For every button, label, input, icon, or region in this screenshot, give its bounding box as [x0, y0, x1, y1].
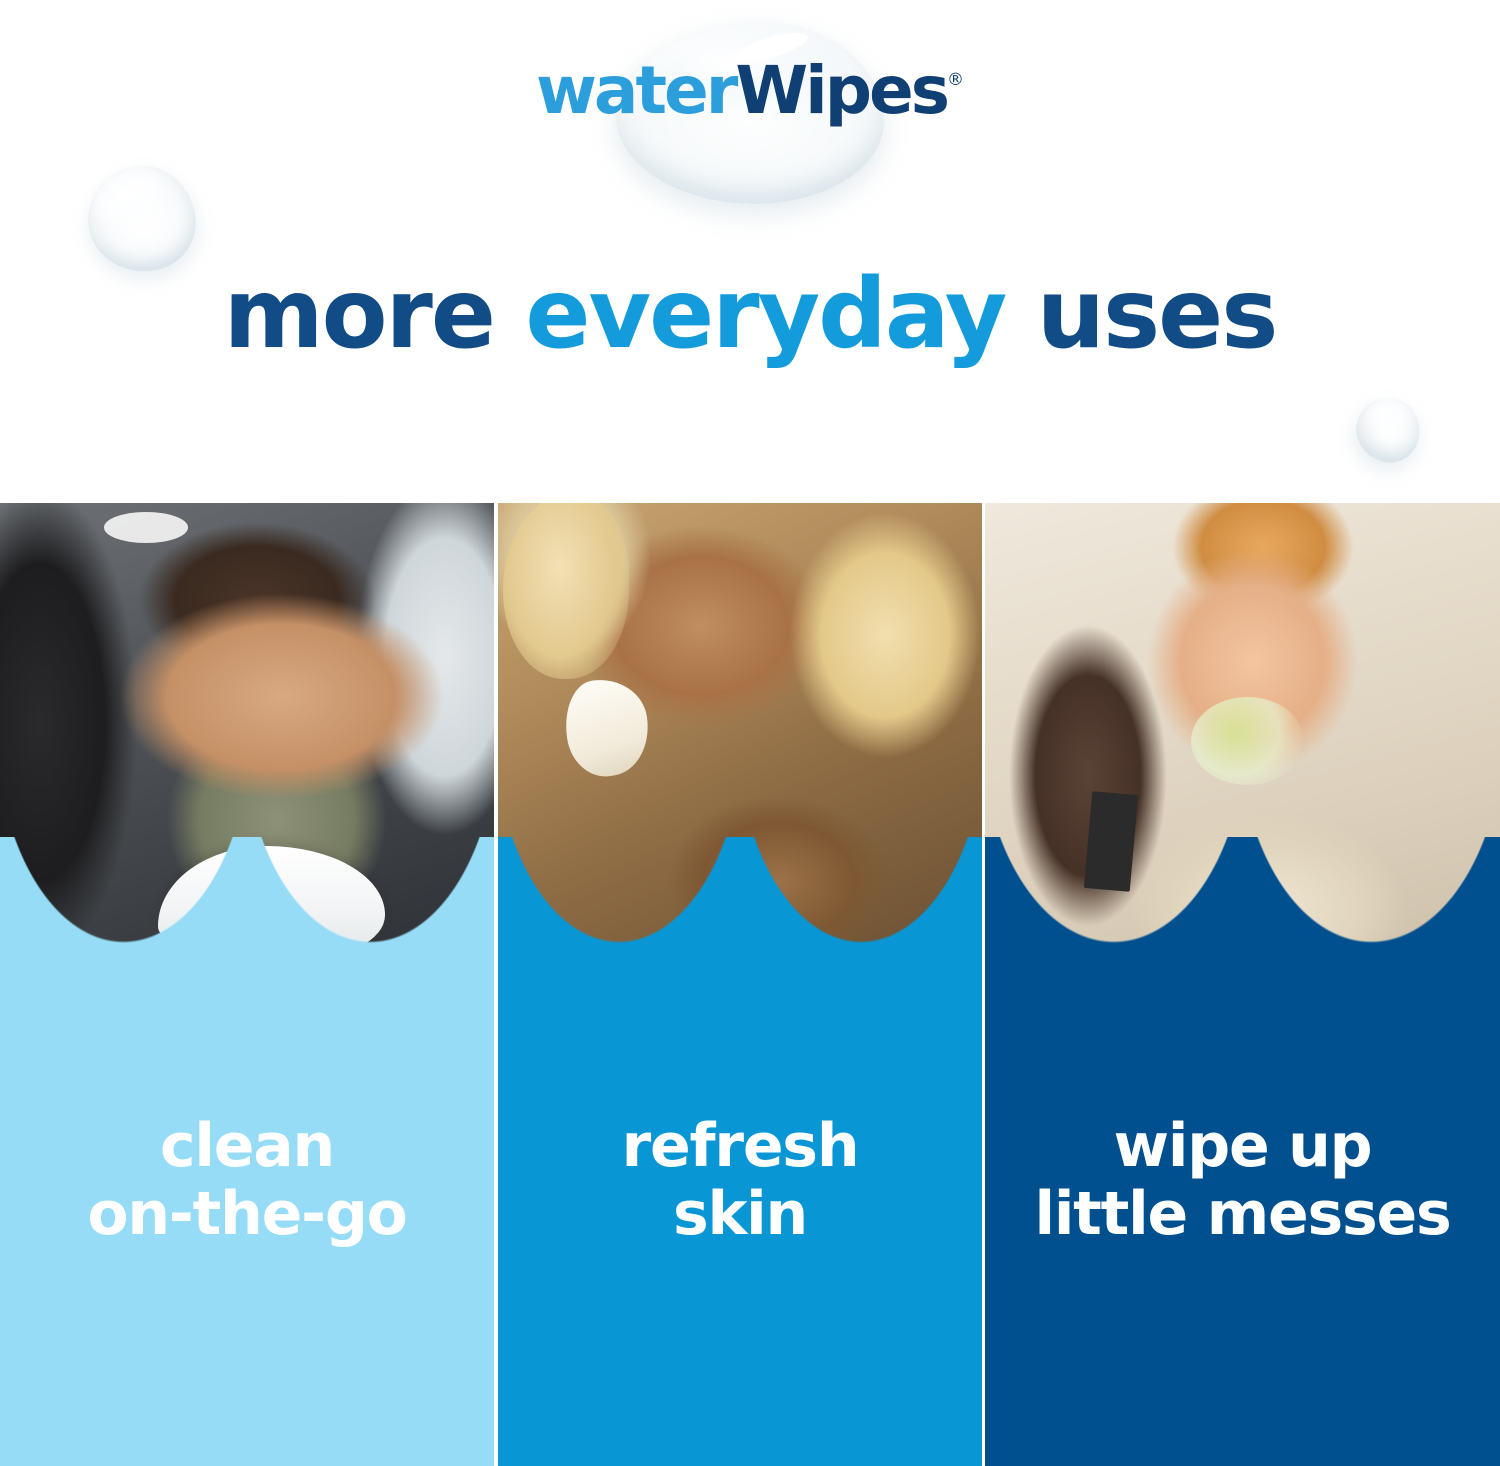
- caption-wipe-up-little-messes: wipe up little messes: [985, 1113, 1500, 1249]
- feature-column-refresh-skin: refresh skin: [498, 503, 982, 1466]
- page-title-part-1: more: [224, 258, 526, 370]
- highchair-strap-shape: [1084, 792, 1139, 892]
- page-title: more everyday uses: [0, 264, 1500, 365]
- brand-wordmark: waterWipes®: [0, 58, 1500, 124]
- header-section: waterWipes® more everyday uses: [0, 0, 1500, 503]
- food-mess-shape: [1191, 697, 1304, 785]
- child-hair-shape: [503, 503, 629, 679]
- feature-column-clean-on-the-go: clean on-the-go: [0, 503, 494, 1466]
- photo-refresh-skin: [498, 503, 982, 943]
- waterwipes-everyday-uses-banner: waterWipes® more everyday uses clean on-…: [0, 0, 1500, 1466]
- photo-image-beach-feet-wiping: [498, 503, 982, 943]
- brand-wordmark-wipes: Wipes: [735, 52, 947, 129]
- water-droplet-icon-right: [1349, 391, 1427, 469]
- feature-column-wipe-up-little-messes: wipe up little messes: [985, 503, 1500, 1466]
- page-title-part-2: everyday: [525, 258, 1005, 370]
- photo-wipe-up-little-messes: [985, 503, 1500, 943]
- caption-clean-on-the-go: clean on-the-go: [0, 1113, 494, 1249]
- car-seat-brand-label: [104, 512, 188, 543]
- registered-trademark-icon: ®: [947, 70, 964, 90]
- brand-logo: waterWipes®: [0, 0, 1500, 230]
- photo-clean-on-the-go: [0, 503, 494, 943]
- feature-columns: clean on-the-go refresh skin wipe up: [0, 503, 1500, 1466]
- photo-image-car-seat-baby: [0, 503, 494, 943]
- page-title-part-3: uses: [1005, 258, 1276, 370]
- photo-image-messy-baby-highchair: [985, 503, 1500, 943]
- caption-refresh-skin: refresh skin: [498, 1113, 982, 1249]
- brand-wordmark-water: water: [536, 52, 735, 129]
- wipe-cloth-shape: [158, 846, 385, 943]
- wipe-cloth-shape: [559, 674, 654, 781]
